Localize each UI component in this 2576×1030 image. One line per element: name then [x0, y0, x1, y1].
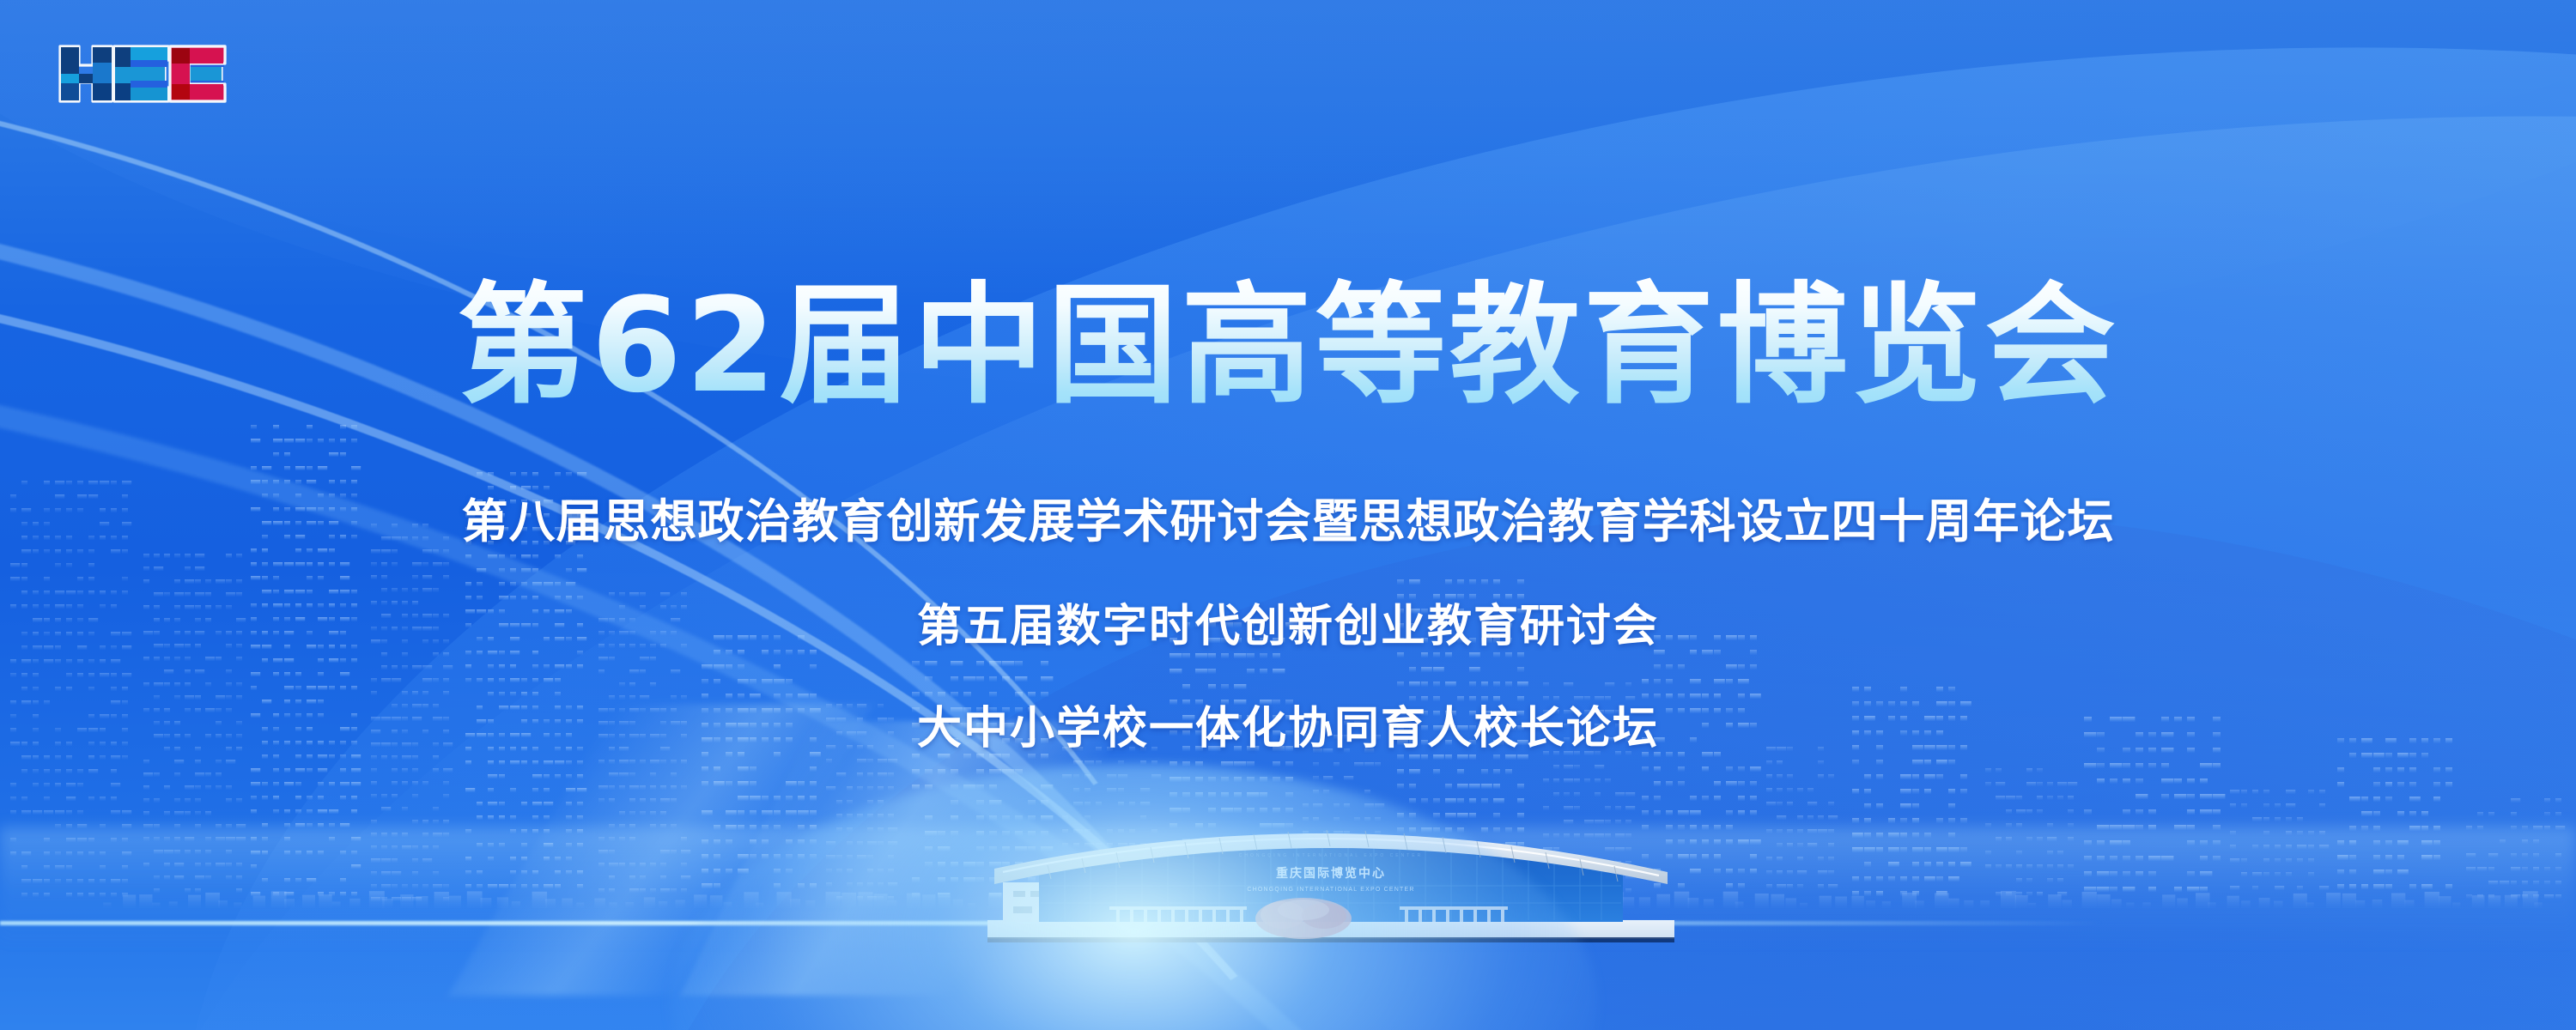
banner-text-block: 第62届中国高等教育博览会 第八届思想政治教育创新发展学术研讨会暨思想政治教育学…	[0, 0, 2576, 1030]
event-banner: 重庆国际博览中心 CHONGQING INTERNATIONAL EXPO CE…	[0, 0, 2576, 1030]
sub-forum-1: 第八届思想政治教育创新发展学术研讨会暨思想政治教育学科设立四十周年论坛	[0, 483, 2576, 551]
sub-forum-3: 大中小学校一体化协同育人校长论坛	[0, 692, 2576, 756]
sub-forum-2: 第五届数字时代创新创业教育研讨会	[0, 590, 2576, 654]
page-title: 第62届中国高等教育博览会	[0, 273, 2576, 419]
